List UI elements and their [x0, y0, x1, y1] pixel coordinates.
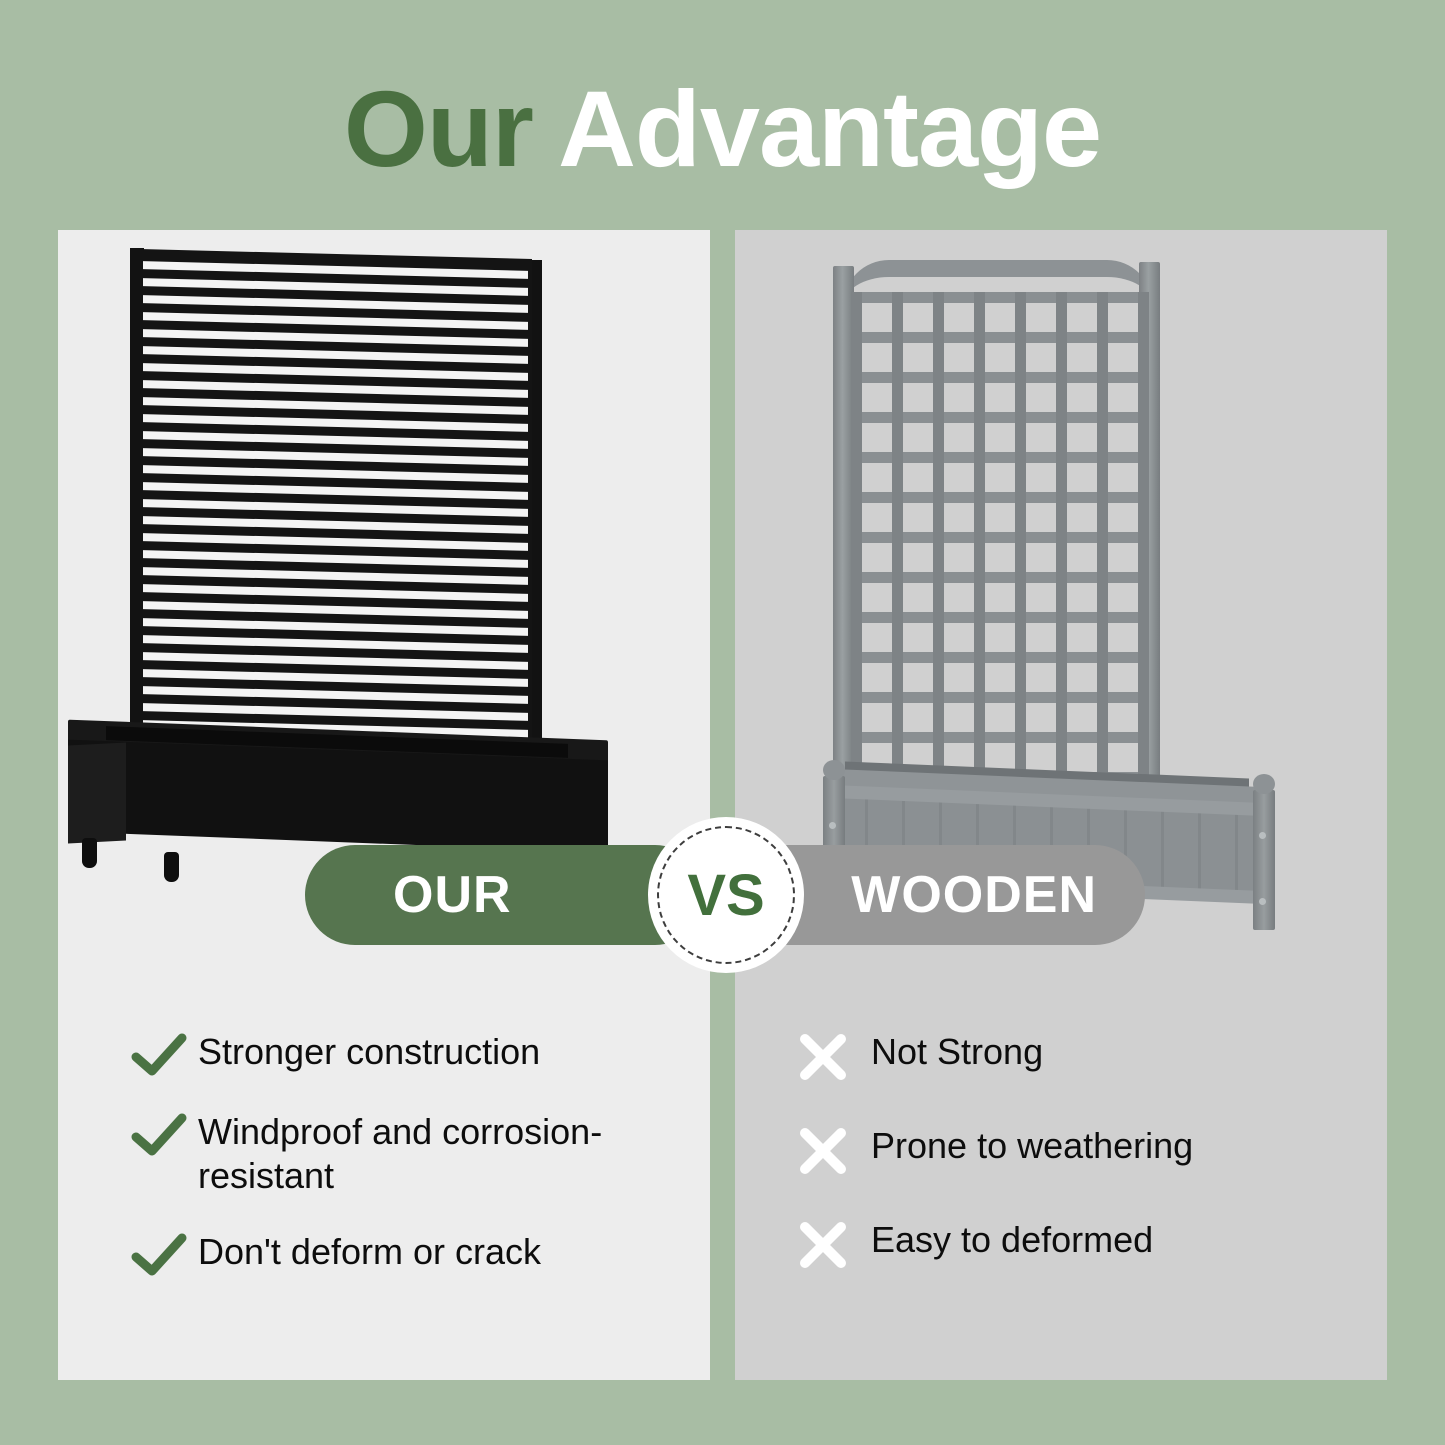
slat-gap — [143, 278, 528, 296]
feature-label: Prone to weathering — [871, 1124, 1219, 1168]
metal-slat-screen — [130, 248, 542, 738]
slat-gap — [143, 363, 528, 381]
lattice-grid — [851, 292, 1147, 784]
page-title-green: Our — [344, 68, 533, 189]
lattice-vertical-bar — [1056, 292, 1067, 784]
wooden-pill-label: WOODEN — [851, 865, 1097, 925]
check-icon — [120, 1030, 198, 1078]
feature-label: Not Strong — [871, 1030, 1069, 1074]
lattice-vertical-bar — [851, 292, 862, 784]
slat-gap — [143, 431, 528, 449]
cross-icon — [775, 1030, 871, 1082]
post-finial-left — [823, 760, 845, 780]
slat-gap — [143, 499, 528, 517]
slat-gap — [143, 414, 528, 432]
our-feature-list: Stronger constructionWindproof and corro… — [58, 1030, 710, 1310]
feature-label: Stronger construction — [198, 1030, 566, 1074]
feature-row: Not Strong — [775, 1030, 1387, 1082]
slat-gap — [143, 703, 528, 721]
lattice-vertical-bar — [892, 292, 903, 784]
lattice-vertical-bar — [1097, 292, 1108, 784]
feature-row: Stronger construction — [120, 1030, 710, 1078]
screw-icon — [1259, 832, 1266, 839]
slat-gap — [143, 380, 528, 398]
feature-row: Windproof and corrosion-resistant — [120, 1110, 710, 1198]
our-pill: OUR — [305, 845, 705, 945]
slat-gap — [143, 567, 528, 585]
slat-gap — [143, 397, 528, 415]
screw-icon — [829, 822, 836, 829]
lattice-vertical-bar — [1015, 292, 1026, 784]
slat-gap — [143, 669, 528, 687]
metal-slats — [140, 249, 532, 743]
slat-gap — [143, 465, 528, 483]
feature-label: Windproof and corrosion-resistant — [198, 1110, 710, 1198]
slat-gap — [143, 312, 528, 330]
planter-box-side — [68, 742, 126, 843]
slat-gap — [143, 346, 528, 364]
cross-icon — [775, 1124, 871, 1176]
page-title: Our Advantage — [0, 72, 1445, 185]
feature-label: Easy to deformed — [871, 1218, 1179, 1262]
slat-gap — [143, 618, 528, 636]
page-title-white: Advantage — [558, 68, 1101, 189]
vs-label: VS — [687, 862, 764, 929]
slat-gap — [143, 482, 528, 500]
check-icon — [120, 1230, 198, 1278]
post-finial-right — [1253, 774, 1275, 794]
right-comparison-panel: Not StrongProne to weatheringEasy to def… — [735, 230, 1387, 1380]
slat-gap — [143, 652, 528, 670]
slat-gap — [143, 448, 528, 466]
check-icon — [120, 1110, 198, 1158]
wooden-feature-list: Not StrongProne to weatheringEasy to def… — [735, 1030, 1387, 1312]
slat-gap — [143, 584, 528, 602]
slat-gap — [143, 635, 528, 653]
feature-row: Don't deform or crack — [120, 1230, 710, 1278]
slat-gap — [143, 516, 528, 534]
slat-gap — [143, 550, 528, 568]
slat-gap — [143, 601, 528, 619]
slat-gap — [143, 533, 528, 551]
slat-gap — [143, 686, 528, 704]
cross-icon — [775, 1218, 871, 1270]
slat-gap — [143, 329, 528, 347]
comparison-banner: OUR WOODEN VS — [0, 845, 1445, 945]
metal-planter-box — [68, 730, 608, 858]
planter-box-front — [68, 740, 608, 853]
left-comparison-panel: Stronger constructionWindproof and corro… — [58, 230, 710, 1380]
lattice-vertical-bar — [1138, 292, 1149, 784]
lattice-vertical-bar — [974, 292, 985, 784]
vs-badge: VS — [648, 817, 804, 973]
feature-row: Prone to weathering — [775, 1124, 1387, 1176]
lattice-vertical-bar — [933, 292, 944, 784]
feature-row: Easy to deformed — [775, 1218, 1387, 1270]
slat-gap — [143, 295, 528, 313]
slat-gap — [143, 261, 528, 279]
our-pill-label: OUR — [393, 865, 512, 925]
feature-label: Don't deform or crack — [198, 1230, 567, 1274]
